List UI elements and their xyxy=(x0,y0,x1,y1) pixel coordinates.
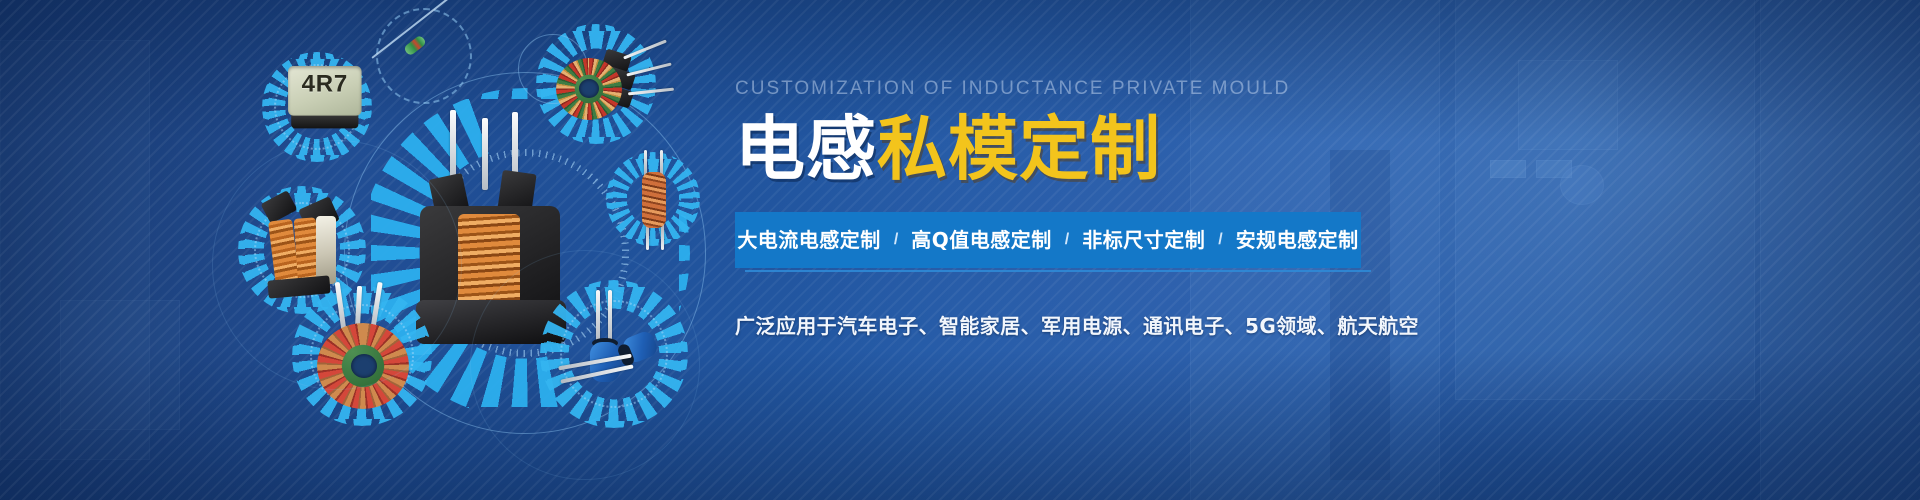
title-white-part: 电感 xyxy=(735,108,877,190)
feature-separator-0: / xyxy=(894,231,898,249)
rod-lead-bottom-2 xyxy=(661,224,664,250)
title-gold-part: 私模定制 xyxy=(877,108,1161,190)
promo-banner: 4R7 xyxy=(0,0,1920,500)
banner-text-block: CUSTOMIZATION OF INDUCTANCE PRIVATE MOUL… xyxy=(735,78,1895,340)
rod-winding xyxy=(642,172,666,228)
feature-bar-underline xyxy=(745,270,1371,272)
component-rod-choke xyxy=(634,150,674,250)
feature-bar-wrapper: 大电流电感定制 / 高Q值电感定制 / 非标尺寸定制 / 安规电感定制 xyxy=(735,212,1361,268)
feature-item-1: 高Q值电感定制 xyxy=(911,230,1052,250)
hero-lead-2 xyxy=(482,118,488,190)
application-description: 广泛应用于汽车电子、智能家居、军用电源、通讯电子、5G领域、航天航空 xyxy=(735,312,1895,340)
component-smd-inductor: 4R7 xyxy=(288,66,362,130)
feature-separator-1: / xyxy=(1065,231,1069,249)
hud-decor-arc-2 xyxy=(470,250,700,480)
english-subtitle: CUSTOMIZATION OF INDUCTANCE PRIVATE MOUL… xyxy=(735,78,1895,101)
feature-bar: 大电流电感定制 / 高Q值电感定制 / 非标尺寸定制 / 安规电感定制 xyxy=(735,212,1361,268)
hud-decor-arc-1 xyxy=(212,140,462,390)
rod-lead-bottom-1 xyxy=(646,224,649,250)
feature-item-0: 大电流电感定制 xyxy=(737,230,881,250)
feature-item-3: 安规电感定制 xyxy=(1236,230,1359,250)
hud-ring-axial xyxy=(376,8,472,104)
feature-item-2: 非标尺寸定制 xyxy=(1082,230,1205,250)
tech-hud-graphic: 4R7 xyxy=(0,0,780,500)
feature-separator-2: / xyxy=(1218,231,1222,249)
main-title: 电感私模定制 xyxy=(735,113,1895,187)
cm-center-hole xyxy=(579,79,599,98)
smd-label: 4R7 xyxy=(288,72,362,96)
